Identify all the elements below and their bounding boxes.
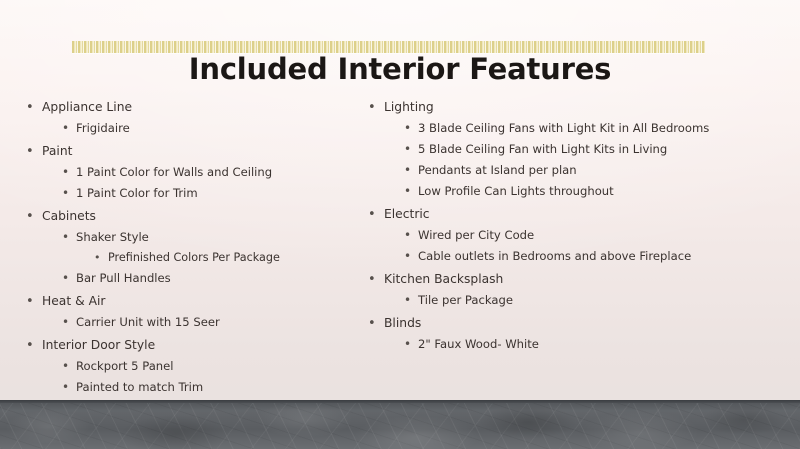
bullet-dot-icon: • (62, 121, 76, 134)
bullet-text: Lighting (384, 100, 434, 114)
bullet-text: Cable outlets in Bedrooms and above Fire… (418, 249, 691, 263)
bullet-dot-icon: • (368, 316, 384, 330)
bullet-dot-icon: • (404, 163, 418, 176)
bullet-item-level-2: •Pendants at Island per plan (368, 163, 800, 177)
bullet-dot-icon: • (62, 380, 76, 393)
bullet-item-level-1: •Appliance Line (26, 100, 358, 114)
bullet-dot-icon: • (62, 359, 76, 372)
bullet-text: Electric (384, 207, 430, 221)
content-columns: •Appliance Line•Frigidaire•Paint•1 Paint… (0, 100, 800, 385)
bullet-item-level-2: •Cable outlets in Bedrooms and above Fir… (368, 249, 800, 263)
bullet-dot-icon: • (62, 186, 76, 199)
bullet-dot-icon: • (26, 338, 42, 352)
bullet-text: Appliance Line (42, 100, 132, 114)
bullet-text: Heat & Air (42, 294, 105, 308)
bullet-text: Prefinished Colors Per Package (108, 251, 280, 264)
bullet-item-level-1: •Interior Door Style (26, 338, 358, 352)
bullet-dot-icon: • (62, 165, 76, 178)
bullet-text: Low Profile Can Lights throughout (418, 184, 614, 198)
bullet-text: Bar Pull Handles (76, 271, 171, 285)
bullet-item-level-2: •Bar Pull Handles (26, 271, 358, 285)
bullet-text: 2" Faux Wood- White (418, 337, 539, 351)
stone-texture-band (0, 400, 800, 449)
bullet-item-level-2: •1 Paint Color for Walls and Ceiling (26, 165, 358, 179)
presentation-slide: Included Interior Features •Appliance Li… (0, 0, 800, 449)
bullet-item-level-1: •Lighting (368, 100, 800, 114)
bullet-dot-icon: • (404, 337, 418, 350)
bullet-item-level-1: •Heat & Air (26, 294, 358, 308)
bullet-text: 5 Blade Ceiling Fan with Light Kits in L… (418, 142, 667, 156)
bullet-dot-icon: • (26, 144, 42, 158)
bullet-text: Paint (42, 144, 72, 158)
bullet-dot-icon: • (62, 230, 76, 243)
bullet-item-level-2: •Rockport 5 Panel (26, 359, 358, 373)
bullet-text: Wired per City Code (418, 228, 534, 242)
right-bullet-column: •Lighting•3 Blade Ceiling Fans with Ligh… (358, 100, 800, 385)
bullet-dot-icon: • (404, 249, 418, 262)
bullet-item-level-2: •2" Faux Wood- White (368, 337, 800, 351)
bullet-text: Cabinets (42, 209, 96, 223)
bullet-text: Blinds (384, 316, 421, 330)
bullet-item-level-1: •Cabinets (26, 209, 358, 223)
bullet-dot-icon: • (62, 271, 76, 284)
bullet-dot-icon: • (404, 228, 418, 241)
bullet-item-level-1: •Electric (368, 207, 800, 221)
bullet-dot-icon: • (404, 293, 418, 306)
bullet-item-level-2: •1 Paint Color for Trim (26, 186, 358, 200)
bullet-item-level-2: •Painted to match Trim (26, 380, 358, 394)
bullet-item-level-2: •Shaker Style (26, 230, 358, 244)
bullet-text: Shaker Style (76, 230, 149, 244)
slide-title: Included Interior Features (0, 54, 800, 84)
bullet-item-level-3: •Prefinished Colors Per Package (26, 251, 358, 264)
bullet-item-level-2: •Frigidaire (26, 121, 358, 135)
bullet-text: Tile per Package (418, 293, 513, 307)
bullet-dot-icon: • (404, 121, 418, 134)
bullet-item-level-2: •Low Profile Can Lights throughout (368, 184, 800, 198)
bullet-text: Pendants at Island per plan (418, 163, 577, 177)
bullet-item-level-2: •Tile per Package (368, 293, 800, 307)
bullet-dot-icon: • (94, 251, 108, 263)
bullet-dot-icon: • (404, 184, 418, 197)
bullet-item-level-2: •3 Blade Ceiling Fans with Light Kit in … (368, 121, 800, 135)
bullet-text: Kitchen Backsplash (384, 272, 503, 286)
bullet-dot-icon: • (404, 142, 418, 155)
bullet-text: 1 Paint Color for Walls and Ceiling (76, 165, 272, 179)
bullet-item-level-2: •Wired per City Code (368, 228, 800, 242)
bullet-dot-icon: • (62, 315, 76, 328)
bullet-text: 1 Paint Color for Trim (76, 186, 198, 200)
bullet-item-level-2: •Carrier Unit with 15 Seer (26, 315, 358, 329)
bullet-text: Interior Door Style (42, 338, 155, 352)
bullet-dot-icon: • (26, 209, 42, 223)
bullet-text: 3 Blade Ceiling Fans with Light Kit in A… (418, 121, 709, 135)
bullet-dot-icon: • (368, 207, 384, 221)
bullet-dot-icon: • (368, 272, 384, 286)
bullet-item-level-2: •5 Blade Ceiling Fan with Light Kits in … (368, 142, 800, 156)
bullet-item-level-1: •Blinds (368, 316, 800, 330)
stone-band-top-edge (0, 400, 800, 403)
bullet-item-level-1: •Paint (26, 144, 358, 158)
bullet-dot-icon: • (368, 100, 384, 114)
left-bullet-column: •Appliance Line•Frigidaire•Paint•1 Paint… (0, 100, 358, 385)
bullet-text: Rockport 5 Panel (76, 359, 174, 373)
bullet-text: Frigidaire (76, 121, 130, 135)
bullet-item-level-1: •Kitchen Backsplash (368, 272, 800, 286)
bullet-text: Painted to match Trim (76, 380, 203, 394)
bullet-dot-icon: • (26, 294, 42, 308)
bullet-dot-icon: • (26, 100, 42, 114)
bullet-text: Carrier Unit with 15 Seer (76, 315, 220, 329)
